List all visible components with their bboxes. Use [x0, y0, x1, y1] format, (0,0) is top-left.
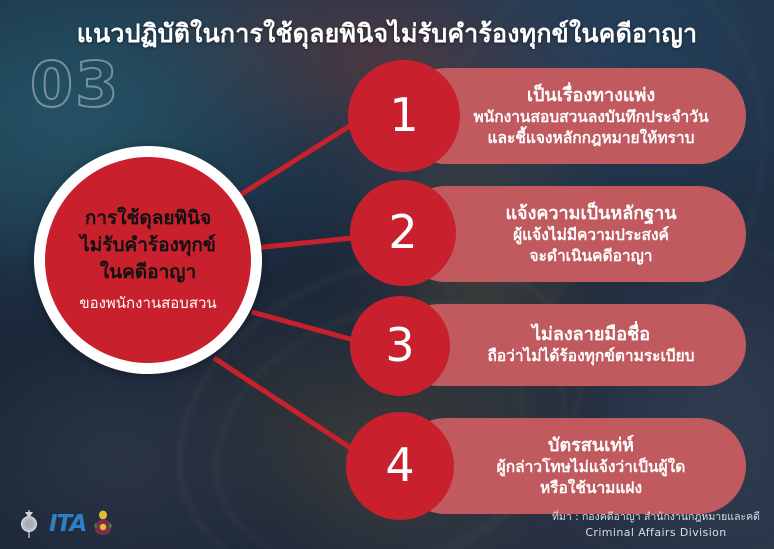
- item-heading: เป็นเรื่องทางแพ่ง: [527, 84, 655, 107]
- source-credit-thai: ที่มา : กองคดีอาญา สำนักงานกฎหมายและคดี: [552, 510, 760, 525]
- thai-garuda-emblem-icon: [93, 510, 113, 538]
- item-body-line1: ผู้กล่าวโทษไม่แจ้งว่าเป็นผู้ใด: [497, 457, 686, 478]
- hub-circle: การใช้ดุลยพินิจ ไม่รับคำร้องทุกข์ ในคดีอ…: [34, 146, 262, 374]
- page-title: แนวปฏิบัติในการใช้ดุลยพินิจไม่รับคำร้องท…: [0, 14, 774, 54]
- list-item: เป็นเรื่องทางแพ่ง พนักงานสอบสวนลงบันทึกป…: [340, 60, 760, 172]
- item-heading: ไม่ลงลายมือชื่อ: [532, 323, 650, 346]
- hub-title-line1: การใช้ดุลยพินิจ: [80, 205, 216, 232]
- item-body-line2: หรือใช้นามแฝง: [540, 478, 642, 499]
- item-body-line1: พนักงานสอบสวนลงบันทึกประจำวัน: [473, 107, 708, 128]
- item-number-badge: 2: [350, 180, 456, 286]
- item-heading: บัตรสนเท่ห์: [548, 434, 634, 457]
- hub-title-line2: ไม่รับคำร้องทุกข์: [80, 232, 216, 259]
- item-body-line2: และชี้แจงหลักกฎหมายให้ทราบ: [488, 128, 695, 149]
- item-body-line1: ผู้แจ้งไม่มีความประสงค์: [513, 225, 669, 246]
- item-pill: ไม่ลงลายมือชื่อ ถือว่าไม่ได้ร้องทุกข์ตาม…: [398, 304, 746, 386]
- list-item: บัตรสนเท่ห์ ผู้กล่าวโทษไม่แจ้งว่าเป็นผู้…: [340, 412, 760, 520]
- item-body-line2: จะดำเนินคดีอาญา: [529, 246, 652, 267]
- item-number-badge: 4: [346, 412, 454, 520]
- item-number-badge: 1: [348, 60, 460, 172]
- item-number-badge: 3: [350, 296, 450, 396]
- source-credit: ที่มา : กองคดีอาญา สำนักงานกฎหมายและคดี …: [552, 510, 760, 541]
- item-body-line1: ถือว่าไม่ได้ร้องทุกข์ตามระเบียบ: [487, 346, 694, 367]
- footer-logos: ITA: [16, 509, 113, 539]
- item-heading: แจ้งความเป็นหลักฐาน: [505, 202, 676, 225]
- royal-thai-police-emblem-icon: [16, 509, 42, 539]
- hub-subtitle: ของพนักงานสอบสวน: [79, 291, 216, 315]
- list-item: แจ้งความเป็นหลักฐาน ผู้แจ้งไม่มีความประส…: [340, 180, 760, 288]
- infographic-canvas: แนวปฏิบัติในการใช้ดุลยพินิจไม่รับคำร้องท…: [0, 0, 774, 549]
- ita-logo: ITA: [49, 511, 86, 537]
- hub-title: การใช้ดุลยพินิจ ไม่รับคำร้องทุกข์ ในคดีอ…: [72, 205, 224, 286]
- list-item: ไม่ลงลายมือชื่อ ถือว่าไม่ได้ร้องทุกข์ตาม…: [340, 296, 760, 396]
- hub-title-line3: ในคดีอาญา: [80, 259, 216, 286]
- source-credit-english: Criminal Affairs Division: [552, 525, 760, 541]
